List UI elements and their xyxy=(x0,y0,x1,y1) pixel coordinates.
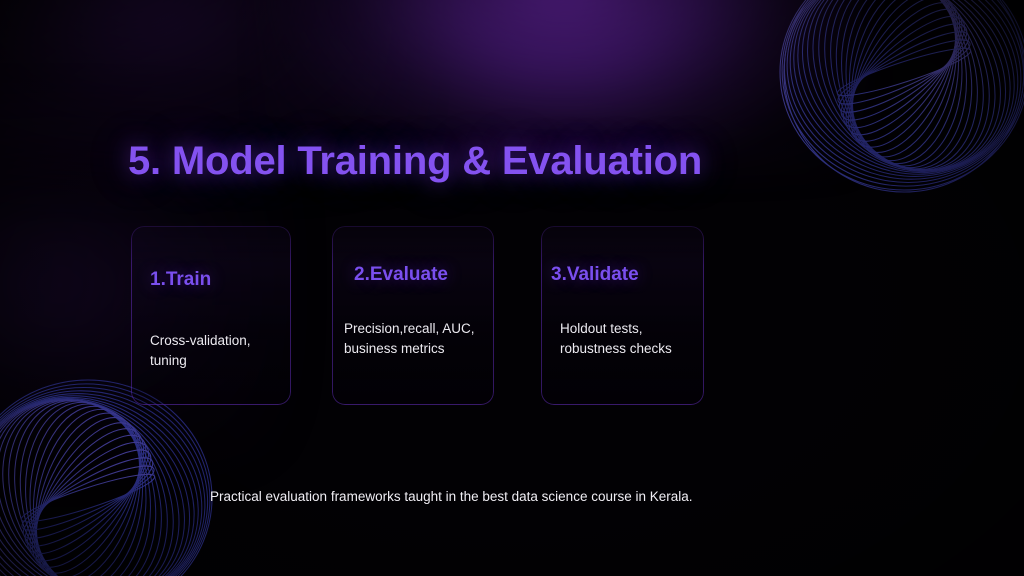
card-validate[interactable]: 3.Validate Holdout tests, robustness che… xyxy=(541,226,704,405)
card-train[interactable]: 1.Train Cross-validation, tuning xyxy=(131,226,291,405)
card-content: 2.Evaluate Precision,recall, AUC, busine… xyxy=(333,227,493,404)
slide-footer-note: Practical evaluation frameworks taught i… xyxy=(210,487,734,506)
card-heading: 1.Train xyxy=(150,269,211,291)
card-evaluate[interactable]: 2.Evaluate Precision,recall, AUC, busine… xyxy=(332,226,494,405)
card-heading: 2.Evaluate xyxy=(354,264,448,286)
slide-canvas: 5. Model Training & Evaluation 1.Train C… xyxy=(0,0,1024,576)
spiral-ornament-top-right-icon xyxy=(732,0,1024,246)
card-heading: 3.Validate xyxy=(551,264,639,286)
slide-title: 5. Model Training & Evaluation xyxy=(128,139,702,184)
card-content: 3.Validate Holdout tests, robustness che… xyxy=(542,227,703,404)
card-description: Holdout tests, robustness checks xyxy=(560,319,694,358)
card-content: 1.Train Cross-validation, tuning xyxy=(132,227,290,404)
card-description: Cross-validation, tuning xyxy=(150,331,282,370)
card-description: Precision,recall, AUC, business metrics xyxy=(344,319,489,358)
